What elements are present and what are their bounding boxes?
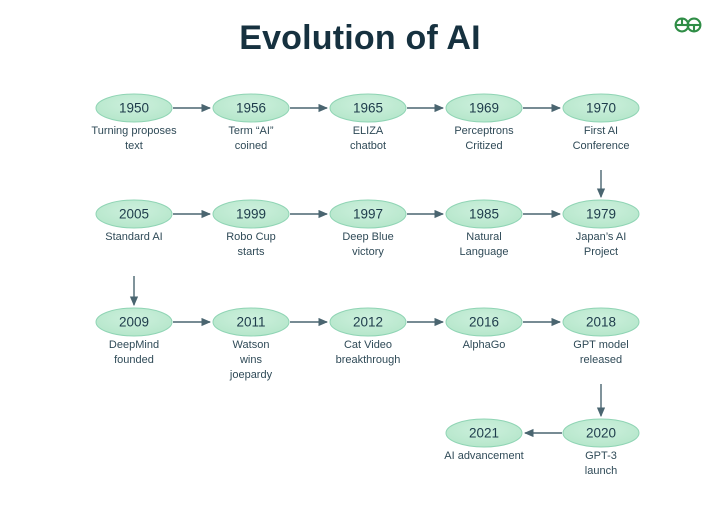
node-year: 1969	[469, 101, 499, 116]
node-year: 2016	[469, 315, 499, 330]
node-label: ELIZAchatbot	[350, 125, 386, 152]
timeline-node-1979[interactable]: 1979Japan’s AIProject	[563, 200, 639, 258]
timeline-node-2020[interactable]: 2020GPT-3launch	[563, 419, 639, 477]
timeline-node-1956[interactable]: 1956Term “AI”coined	[213, 94, 289, 152]
node-label: Standard AI	[105, 231, 163, 243]
node-label: GPT-3launch	[585, 450, 617, 477]
node-label: AI advancement	[444, 450, 524, 462]
node-label: NaturalLanguage	[460, 231, 509, 258]
timeline-node-2018[interactable]: 2018GPT modelreleased	[563, 308, 639, 366]
node-year: 2020	[586, 426, 616, 441]
node-year: 2018	[586, 315, 616, 330]
node-label: First AIConference	[573, 125, 630, 152]
timeline-node-2005[interactable]: 2005Standard AI	[96, 200, 172, 243]
node-label: GPT modelreleased	[573, 339, 628, 366]
timeline-node-1999[interactable]: 1999Robo Cupstarts	[213, 200, 289, 258]
node-year: 1970	[586, 101, 616, 116]
timeline-node-1997[interactable]: 1997Deep Bluevictory	[330, 200, 406, 258]
node-year: 1950	[119, 101, 149, 116]
node-label: Robo Cupstarts	[226, 231, 276, 258]
node-label: Japan’s AIProject	[576, 231, 627, 258]
node-year: 1985	[469, 207, 499, 222]
node-label: DeepMindfounded	[109, 339, 159, 366]
node-label: Watsonwinsjoepardy	[229, 339, 273, 381]
connector-layer	[134, 108, 601, 433]
timeline-node-1985[interactable]: 1985NaturalLanguage	[446, 200, 522, 258]
timeline-node-1950[interactable]: 1950Turning proposestext	[91, 94, 177, 152]
timeline-node-2016[interactable]: 2016AlphaGo	[446, 308, 522, 351]
timeline-node-2009[interactable]: 2009DeepMindfounded	[96, 308, 172, 366]
node-year: 1999	[236, 207, 266, 222]
node-label: AlphaGo	[463, 339, 506, 351]
node-label: Deep Bluevictory	[342, 231, 393, 258]
timeline-node-1965[interactable]: 1965ELIZAchatbot	[330, 94, 406, 152]
node-layer: 1950Turning proposestext1956Term “AI”coi…	[91, 94, 639, 477]
timeline-node-2021[interactable]: 2021AI advancement	[444, 419, 524, 462]
node-year: 1965	[353, 101, 383, 116]
node-label: PerceptronsCritized	[454, 125, 514, 152]
node-year: 2011	[236, 315, 265, 330]
node-year: 2009	[119, 315, 149, 330]
node-label: Cat Videobreakthrough	[336, 339, 401, 366]
timeline-node-1969[interactable]: 1969PerceptronsCritized	[446, 94, 522, 152]
node-year: 2005	[119, 207, 149, 222]
node-year: 2012	[353, 315, 383, 330]
node-year: 1956	[236, 101, 266, 116]
node-label: Term “AI”coined	[228, 125, 274, 152]
node-year: 1997	[353, 207, 383, 222]
timeline-diagram: 1950Turning proposestext1956Term “AI”coi…	[0, 0, 720, 513]
timeline-node-1970[interactable]: 1970First AIConference	[563, 94, 639, 152]
timeline-node-2012[interactable]: 2012Cat Videobreakthrough	[330, 308, 406, 366]
node-year: 1979	[586, 207, 616, 222]
node-year: 2021	[469, 426, 499, 441]
node-label: Turning proposestext	[91, 125, 177, 152]
timeline-node-2011[interactable]: 2011Watsonwinsjoepardy	[213, 308, 289, 381]
